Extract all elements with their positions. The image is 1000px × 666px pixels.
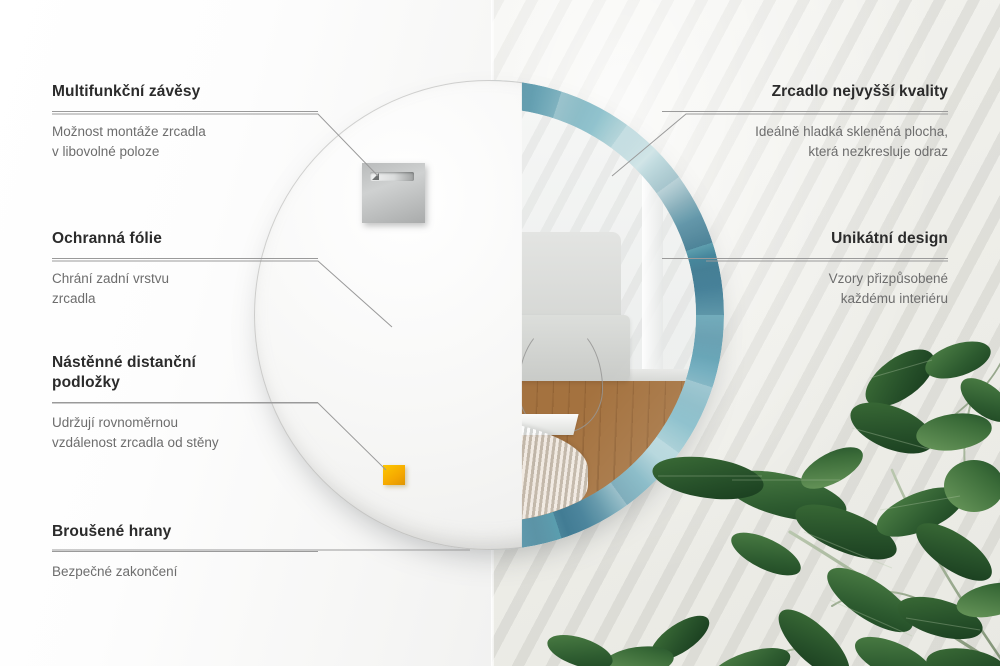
callout-body: Chrání zadní vrstvu zrcadla: [52, 269, 318, 308]
keyhole-slot: [370, 172, 414, 181]
wall-spacer-pad: [383, 465, 405, 485]
callout-title: Ochranná fólie: [52, 229, 318, 249]
callout-title: Unikátní design: [662, 229, 948, 249]
callout-brousene-hrany: Broušené hrany Bezpečné zakončení: [52, 522, 318, 582]
callout-rule: [52, 111, 318, 112]
callout-ochranna-folie: Ochranná fólie Chrání zadní vrstvu zrcad…: [52, 229, 318, 308]
product-infographic: Multifunkční závěsy Možnost montáže zrca…: [0, 0, 1000, 666]
callout-rule: [52, 402, 318, 403]
callout-body: Udržují rovnoměrnou vzdálenost zrcadla o…: [52, 413, 318, 452]
callout-zrcadlo-nejvyssi-kvality: Zrcadlo nejvyšší kvality Ideálně hladká …: [662, 82, 948, 161]
callout-rule: [52, 551, 318, 552]
callout-title: Multifunkční závěsy: [52, 82, 318, 102]
callout-title: Nástěnné distanční podložky: [52, 353, 318, 393]
callout-body: Možnost montáže zrcadla v libovolné polo…: [52, 122, 318, 161]
callout-title: Zrcadlo nejvyšší kvality: [662, 82, 948, 102]
callout-unikatni-design: Unikátní design Vzory přizpůsobené každé…: [662, 229, 948, 308]
callout-multifunkcni-zavesy: Multifunkční závěsy Možnost montáže zrca…: [52, 82, 318, 161]
round-mirror: [254, 80, 724, 550]
keyhole-hanger-bracket: [362, 163, 425, 223]
callout-rule: [52, 258, 318, 259]
callout-rule: [662, 258, 948, 259]
callout-body: Ideálně hladká skleněná plocha, která ne…: [662, 122, 948, 161]
reflected-wall-corner: [642, 108, 663, 406]
callout-rule: [662, 111, 948, 112]
callout-body: Vzory přizpůsobené každému interiéru: [662, 269, 948, 308]
callout-nastenne-distancni-podlozky: Nástěnné distanční podložky Udržují rovn…: [52, 353, 318, 452]
callout-title: Broušené hrany: [52, 522, 318, 542]
callout-body: Bezpečné zakončení: [52, 562, 318, 582]
